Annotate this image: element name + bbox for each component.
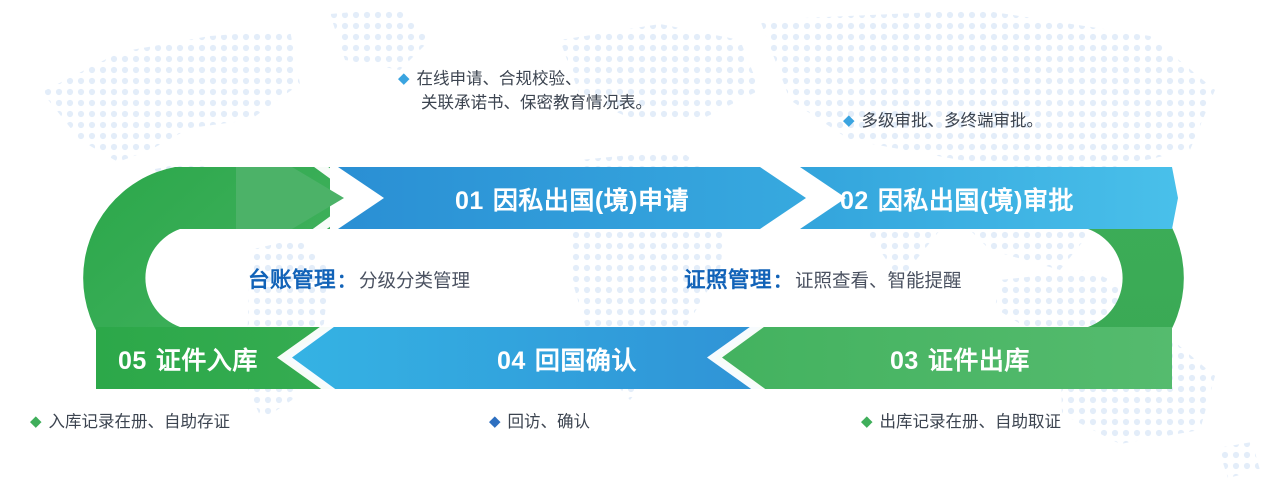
step-02-label[interactable]: 02因私出国(境)审批 <box>840 183 1074 219</box>
center-item-license-value: 证照查看、智能提醒 <box>795 270 962 291</box>
step-05-label[interactable]: 05证件入库 <box>118 343 258 379</box>
center-item-ledger-colon: ： <box>337 271 356 292</box>
step-03-name: 证件出库 <box>928 347 1030 375</box>
step-01-label[interactable]: 01因私出国(境)申请 <box>455 183 689 219</box>
step-04-number: 04 <box>497 347 526 375</box>
step-05-number: 05 <box>118 347 147 375</box>
note-step-01-line2: 关联承诺书、保密教育情况表。 <box>398 92 652 116</box>
step-03-number: 03 <box>890 347 919 375</box>
step-01-name: 因私出国(境)申请 <box>493 187 689 215</box>
center-item-ledger-value: 分级分类管理 <box>359 270 470 291</box>
note-step-01-line1: 在线申请、合规校验、 <box>417 70 582 88</box>
flow-diagram-canvas: ◆在线申请、合规校验、 关联承诺书、保密教育情况表。 ◆多级审批、多终端审批。 … <box>0 0 1268 490</box>
step-02-name: 因私出国(境)审批 <box>878 187 1074 215</box>
note-step-05-text: 入库记录在册、自助存证 <box>49 413 231 431</box>
note-step-02-line1: 多级审批、多终端审批。 <box>862 112 1044 130</box>
step-05-name: 证件入库 <box>156 347 258 375</box>
note-step-02: ◆多级审批、多终端审批。 <box>843 110 1043 134</box>
center-item-ledger-management[interactable]: 台账管理：分级分类管理 <box>248 265 470 296</box>
step-01-number: 01 <box>455 187 484 215</box>
note-step-05: ◆入库记录在册、自助存证 <box>30 411 230 435</box>
center-item-license-colon: ： <box>773 271 792 292</box>
note-step-01: ◆在线申请、合规校验、 关联承诺书、保密教育情况表。 <box>398 68 652 116</box>
center-item-license-management[interactable]: 证照管理：证照查看、智能提醒 <box>684 265 962 296</box>
note-step-04-text: 回访、确认 <box>508 413 591 431</box>
diamond-bullet-blue-icon: ◆ <box>843 112 855 129</box>
note-step-03: ◆出库记录在册、自助取证 <box>861 411 1061 435</box>
step-04-name: 回国确认 <box>535 347 637 375</box>
note-step-04: ◆回访、确认 <box>489 411 590 435</box>
step-02-number: 02 <box>840 187 869 215</box>
diamond-bullet-green-icon: ◆ <box>861 413 873 430</box>
step-04-label[interactable]: 04回国确认 <box>497 343 637 379</box>
center-item-ledger-key: 台账管理 <box>248 268 336 292</box>
note-step-03-text: 出库记录在册、自助取证 <box>880 413 1062 431</box>
diamond-bullet-green-icon: ◆ <box>30 413 42 430</box>
diamond-bullet-blue-icon: ◆ <box>489 413 501 430</box>
step-03-label[interactable]: 03证件出库 <box>890 343 1030 379</box>
center-item-license-key: 证照管理 <box>684 268 772 292</box>
diamond-bullet-blue-icon: ◆ <box>398 70 410 87</box>
